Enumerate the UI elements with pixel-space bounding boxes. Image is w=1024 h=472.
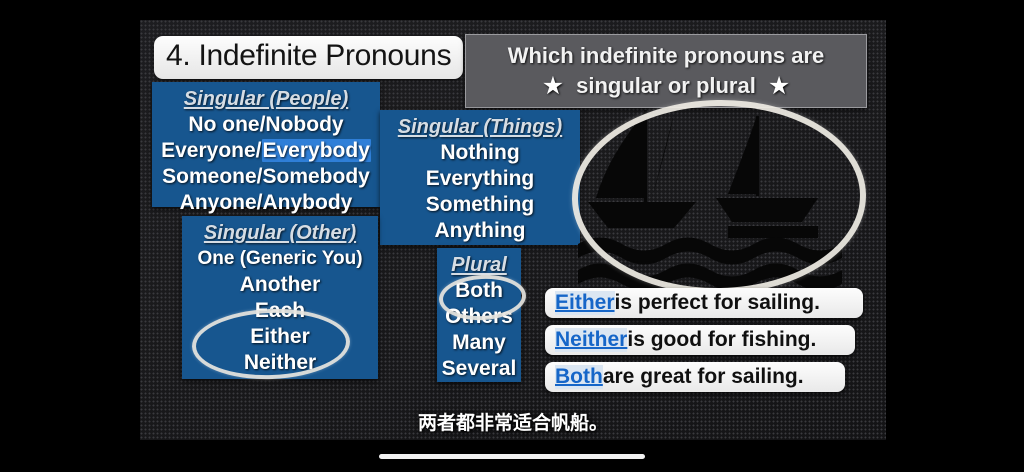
box-heading: Plural bbox=[451, 252, 507, 278]
question-text-2: singular or plural bbox=[576, 71, 756, 101]
sentence-rest: are great for sailing. bbox=[603, 365, 804, 389]
example-sentence-3: Both are great for sailing. bbox=[545, 362, 845, 392]
box-heading: Singular (Other) bbox=[204, 220, 356, 246]
list-item: Another bbox=[240, 272, 321, 298]
box-heading: Singular (Things) bbox=[398, 114, 562, 140]
list-item: Neither bbox=[244, 350, 316, 376]
list-item: Anything bbox=[435, 218, 526, 244]
list-item: Several bbox=[442, 356, 517, 382]
list-item: Either bbox=[250, 324, 310, 350]
box-singular-other: Singular (Other) One (Generic You) Anoth… bbox=[182, 216, 378, 379]
list-item: Everything bbox=[426, 166, 535, 192]
example-sentence-1: Either is perfect for sailing. bbox=[545, 288, 863, 318]
selection-highlight: Everybody bbox=[262, 139, 371, 162]
list-item: Anyone/Anybody bbox=[180, 190, 353, 216]
list-item-highlighted: Everyone/Everybody bbox=[161, 138, 371, 164]
list-item: One (Generic You) bbox=[197, 246, 362, 272]
box-singular-people: Singular (People) No one/Nobody Everyone… bbox=[152, 82, 380, 207]
example-sentence-2: Neither is good for fishing. bbox=[545, 325, 855, 355]
home-indicator[interactable] bbox=[379, 454, 645, 459]
list-item: Many bbox=[452, 330, 506, 356]
question-header: Which indefinite pronouns are ★ singular… bbox=[465, 34, 867, 108]
list-item: Each bbox=[255, 298, 305, 324]
question-line-2: ★ singular or plural ★ bbox=[542, 71, 791, 101]
video-subtitle: 两者都非常适合帆船。 bbox=[140, 408, 886, 435]
star-icon-left: ★ bbox=[542, 74, 564, 99]
list-item: Others bbox=[445, 304, 513, 330]
list-item: Both bbox=[455, 278, 503, 304]
star-icon-right: ★ bbox=[768, 74, 790, 99]
phone-screen: 4. Indefinite Pronouns Which indefinite … bbox=[0, 0, 1024, 472]
keyword-either: Either bbox=[555, 291, 615, 315]
question-line-1: Which indefinite pronouns are bbox=[508, 41, 825, 71]
list-item: Something bbox=[426, 192, 535, 218]
keyword-both: Both bbox=[555, 365, 603, 389]
video-player-frame[interactable]: 4. Indefinite Pronouns Which indefinite … bbox=[140, 20, 886, 440]
box-singular-things: Singular (Things) Nothing Everything Som… bbox=[380, 110, 580, 245]
keyword-neither: Neither bbox=[555, 328, 627, 352]
question-text-1: Which indefinite pronouns are bbox=[508, 41, 825, 71]
sentence-rest: is perfect for sailing. bbox=[615, 291, 820, 315]
slide-title: 4. Indefinite Pronouns bbox=[154, 36, 463, 79]
box-plural: Plural Both Others Many Several bbox=[437, 248, 521, 382]
list-item: No one/Nobody bbox=[188, 112, 343, 138]
box-heading: Singular (People) bbox=[184, 86, 348, 112]
list-item: Someone/Somebody bbox=[162, 164, 370, 190]
sentence-rest: is good for fishing. bbox=[627, 328, 816, 352]
list-item: Nothing bbox=[440, 140, 519, 166]
